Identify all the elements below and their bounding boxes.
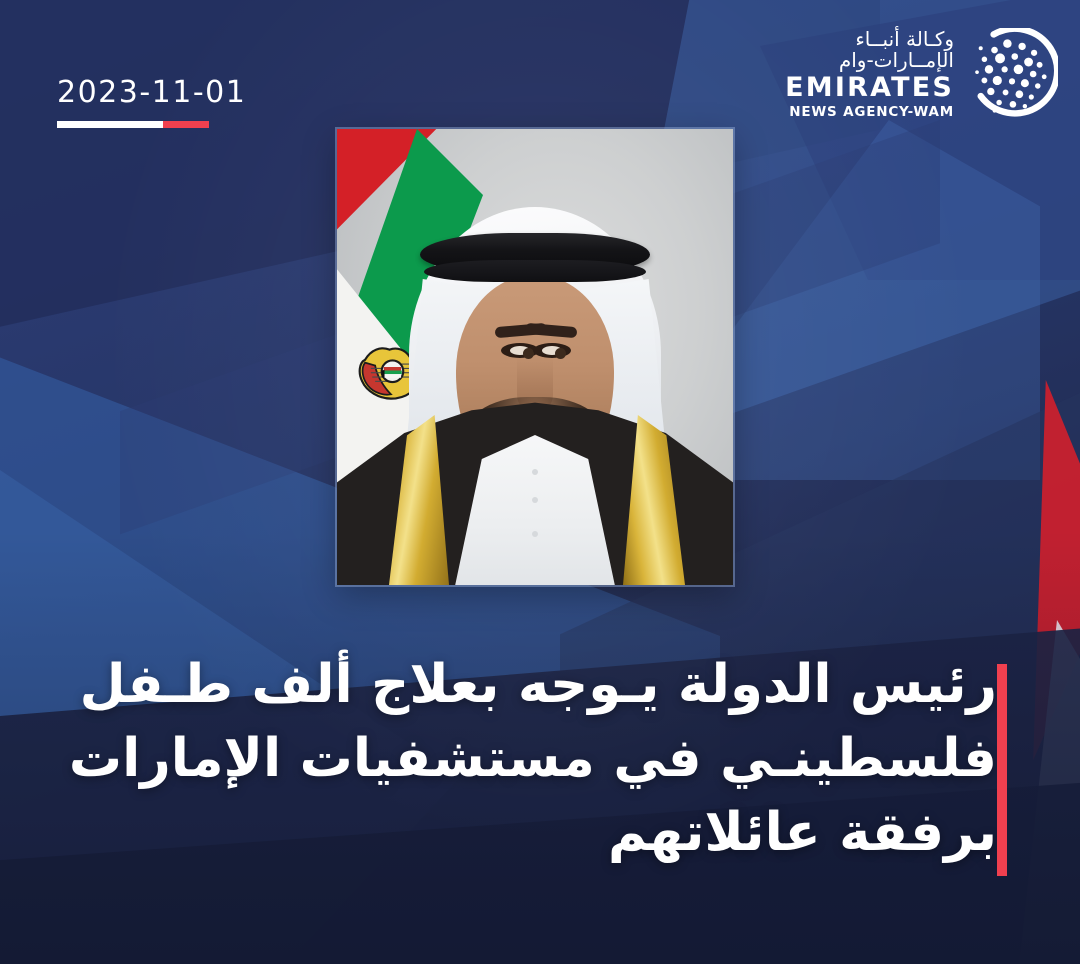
wam-logo-wordmark: وكـالة أنبــاء الإمــارات-وام EMIRATES N… — [785, 29, 954, 119]
wam-globe-icon — [966, 28, 1058, 120]
headline-line-2: فلسطينـي في مستشفيات الإمارات — [69, 722, 997, 796]
headline-block: رئيس الدولة يـوجه بعلاج ألف طـفل فلسطينـ… — [0, 648, 1080, 876]
eye-right-iris — [555, 348, 566, 359]
kandura-button-3 — [532, 531, 538, 537]
wam-logo-arabic-line-2: الإمــارات-وام — [785, 50, 954, 71]
kandura-button-1 — [532, 469, 538, 475]
wam-logo[interactable]: وكـالة أنبــاء الإمــارات-وام EMIRATES N… — [785, 28, 1058, 120]
wam-logo-arabic-line-1: وكـالة أنبــاء — [785, 29, 954, 50]
portrait-photo-frame — [337, 129, 733, 585]
news-card: 2023-11-01 وكـالة أنبــاء الإمــارات-وام… — [0, 0, 1080, 964]
eye-right — [533, 343, 571, 358]
headline-line-3: برفقة عائلاتهم — [69, 796, 997, 870]
date-rule-red-segment — [163, 121, 209, 128]
date-block: 2023-11-01 — [57, 78, 246, 128]
publication-date: 2023-11-01 — [57, 78, 246, 108]
kandura-button-2 — [532, 497, 538, 503]
date-underline-rule — [57, 121, 209, 128]
headline-accent-bar — [997, 664, 1007, 876]
eye-left-white — [510, 346, 530, 355]
wam-logo-english-sub: NEWS AGENCY-WAM — [785, 105, 954, 119]
eye-right-white — [542, 346, 562, 355]
portrait-image — [337, 129, 733, 585]
headline-text: رئيس الدولة يـوجه بعلاج ألف طـفل فلسطينـ… — [69, 648, 997, 871]
date-rule-white-segment — [57, 121, 163, 128]
headline-line-1: رئيس الدولة يـوجه بعلاج ألف طـفل — [69, 648, 997, 722]
agal-headband-lower — [424, 260, 646, 282]
wam-logo-english-main: EMIRATES — [785, 74, 954, 103]
